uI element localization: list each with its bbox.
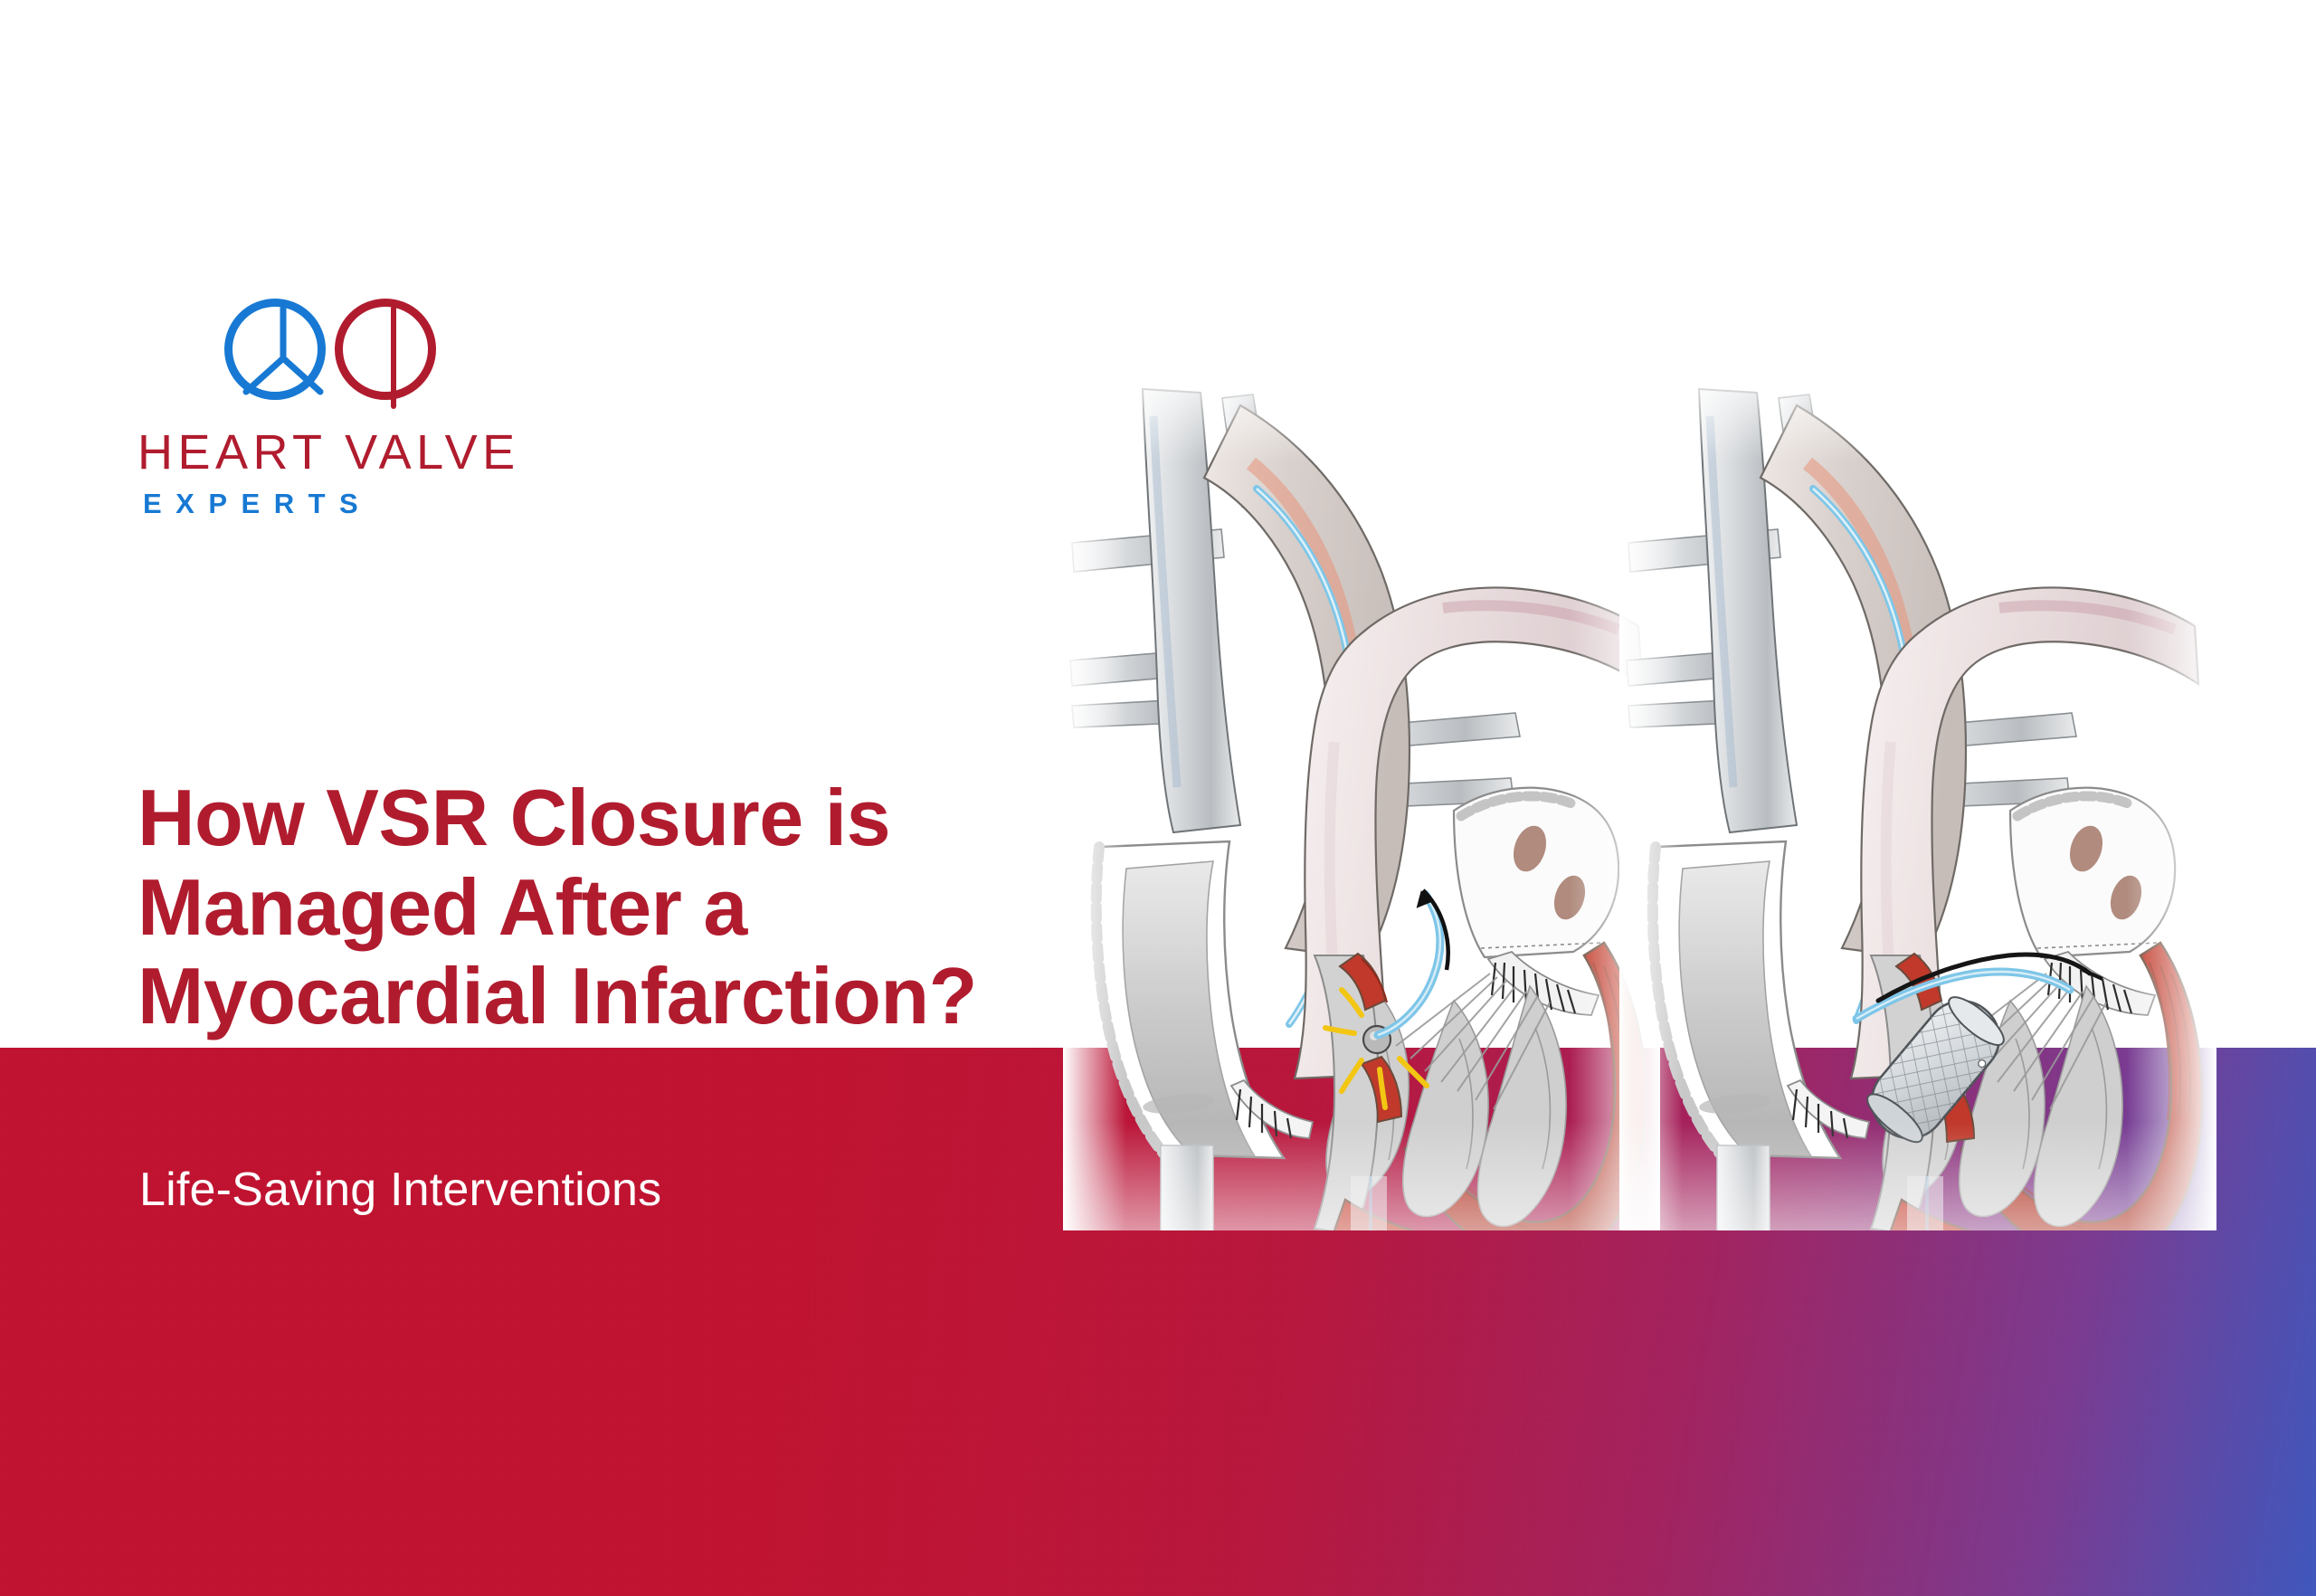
headline-line-3: Myocardial Infarction? bbox=[138, 952, 1096, 1041]
logo-wordmark-primary: HEART VALVE bbox=[138, 428, 517, 477]
logo-valve-marks bbox=[224, 299, 460, 412]
headline-line-2: Managed After a bbox=[138, 863, 1096, 953]
headline-line-1: How VSR Closure is bbox=[138, 774, 1096, 863]
brand-logo[interactable]: HEART VALVE EXPERTS bbox=[138, 299, 517, 518]
bicuspid-valve-circle-icon bbox=[335, 299, 436, 400]
slide-canvas: HEART VALVE EXPERTS How VSR Closure is M… bbox=[0, 0, 2316, 1596]
tricuspid-valve-circle-icon bbox=[224, 299, 326, 400]
page-subtitle: Life-Saving Interventions bbox=[139, 1163, 661, 1217]
heart-figure-right bbox=[1619, 362, 2216, 1230]
logo-wordmark-secondary: EXPERTS bbox=[143, 489, 517, 518]
heart-figure-left bbox=[1063, 362, 1660, 1230]
page-title: How VSR Closure is Managed After a Myoca… bbox=[138, 774, 1096, 1041]
heart-illustration-pair bbox=[1063, 362, 2275, 1230]
